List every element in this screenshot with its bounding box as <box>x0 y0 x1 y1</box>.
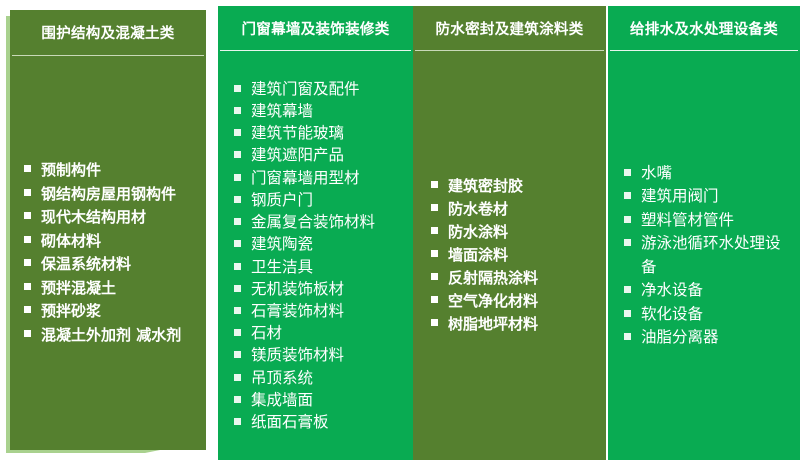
list-item[interactable]: 净水设备 <box>624 279 794 303</box>
list-item-label: 建筑遮阳产品 <box>251 146 344 164</box>
square-bullet-icon <box>624 333 631 340</box>
list-item[interactable]: 建筑用阀门 <box>624 185 794 209</box>
square-bullet-icon <box>234 240 241 247</box>
list-item[interactable]: 游泳池循环水处理设备 <box>624 232 794 279</box>
category-item-list-3: 建筑密封胶 防水卷材 防水涂料 墙面涂料 反射隔热涂料 空气净化材料 树脂地坪材… <box>431 175 600 336</box>
list-item-label: 金属复合装饰材料 <box>251 213 375 231</box>
list-item-label: 建筑幕墙 <box>251 102 313 120</box>
square-bullet-icon <box>624 216 631 223</box>
list-item-label: 树脂地坪材料 <box>448 315 538 333</box>
list-item[interactable]: 金属复合装饰材料 <box>234 211 407 233</box>
square-bullet-icon <box>624 169 631 176</box>
square-bullet-icon <box>431 319 438 326</box>
list-item-label: 墙面涂料 <box>448 246 508 264</box>
list-item-label: 镁质装饰材料 <box>251 346 344 364</box>
list-item[interactable]: 砌体材料 <box>24 230 200 254</box>
square-bullet-icon <box>234 174 241 181</box>
square-bullet-icon <box>234 85 241 92</box>
list-item[interactable]: 水嘴 <box>624 162 794 186</box>
square-bullet-icon <box>431 273 438 280</box>
square-bullet-icon <box>24 330 31 337</box>
list-item-label: 建筑陶瓷 <box>251 235 313 253</box>
square-bullet-icon <box>234 107 241 114</box>
square-bullet-icon <box>24 259 31 266</box>
list-item[interactable]: 空气净化材料 <box>431 290 600 313</box>
list-item-label: 建筑密封胶 <box>448 177 523 195</box>
square-bullet-icon <box>234 307 241 314</box>
column-header-4: 给排水及水处理设备类 <box>608 6 800 50</box>
list-item-label: 建筑节能玻璃 <box>251 124 344 142</box>
category-columns: 围护结构及混凝土类 预制构件 钢结构房屋用钢构件 现代木结构用材 砌体材料 保温… <box>0 0 800 466</box>
list-item-label: 保温系统材料 <box>41 255 131 273</box>
square-bullet-icon <box>624 286 631 293</box>
square-bullet-icon <box>234 374 241 381</box>
square-bullet-icon <box>431 250 438 257</box>
column-body-2: 建筑门窗及配件 建筑幕墙 建筑节能玻璃 建筑遮阳产品 门窗幕墙用型材 钢质户门 … <box>218 51 413 460</box>
list-item-label: 纸面石膏板 <box>251 413 329 431</box>
list-item-label: 现代木结构用材 <box>41 208 146 226</box>
list-item-label: 钢质户门 <box>251 191 313 209</box>
square-bullet-icon <box>234 263 241 270</box>
square-bullet-icon <box>234 418 241 425</box>
category-board: 围护结构及混凝土类 预制构件 钢结构房屋用钢构件 现代木结构用材 砌体材料 保温… <box>0 0 800 466</box>
column-header-1: 围护结构及混凝土类 <box>10 10 206 55</box>
list-item[interactable]: 树脂地坪材料 <box>431 313 600 336</box>
list-item-label: 油脂分离器 <box>641 328 719 346</box>
list-item[interactable]: 反射隔热涂料 <box>431 267 600 290</box>
category-column-2[interactable]: 门窗幕墙及装饰装修类 建筑门窗及配件 建筑幕墙 建筑节能玻璃 建筑遮阳产品 门窗… <box>218 6 413 460</box>
square-bullet-icon <box>234 218 241 225</box>
list-item[interactable]: 保温系统材料 <box>24 253 200 277</box>
column-header-2: 门窗幕墙及装饰装修类 <box>218 6 413 50</box>
list-item-label: 砌体材料 <box>41 232 101 250</box>
list-item[interactable]: 钢质户门 <box>234 189 407 211</box>
list-item[interactable]: 混凝土外加剂 减水剂 <box>24 324 200 348</box>
square-bullet-icon <box>624 310 631 317</box>
list-item-label: 塑料管材管件 <box>641 211 734 229</box>
square-bullet-icon <box>24 283 31 290</box>
category-column-1[interactable]: 围护结构及混凝土类 预制构件 钢结构房屋用钢构件 现代木结构用材 砌体材料 保温… <box>10 10 206 450</box>
square-bullet-icon <box>24 189 31 196</box>
list-item[interactable]: 现代木结构用材 <box>24 206 200 230</box>
list-item-label: 门窗幕墙用型材 <box>251 169 360 187</box>
list-item[interactable]: 石材 <box>234 322 407 344</box>
list-item[interactable]: 建筑幕墙 <box>234 100 407 122</box>
square-bullet-icon <box>234 329 241 336</box>
list-item-label: 预拌砂浆 <box>41 302 101 320</box>
square-bullet-icon <box>234 129 241 136</box>
square-bullet-icon <box>431 227 438 234</box>
list-item-label: 集成墙面 <box>251 391 313 409</box>
square-bullet-icon <box>234 285 241 292</box>
square-bullet-icon <box>24 306 31 313</box>
list-item-label: 无机装饰板材 <box>251 280 344 298</box>
square-bullet-icon <box>24 212 31 219</box>
list-item[interactable]: 墙面涂料 <box>431 244 600 267</box>
square-bullet-icon <box>624 192 631 199</box>
category-item-list-1: 预制构件 钢结构房屋用钢构件 现代木结构用材 砌体材料 保温系统材料 预拌混凝土… <box>24 159 200 347</box>
square-bullet-icon <box>24 165 31 172</box>
list-item[interactable]: 建筑节能玻璃 <box>234 122 407 144</box>
list-item-label: 预制构件 <box>41 161 101 179</box>
category-column-4[interactable]: 给排水及水处理设备类 水嘴 建筑用阀门 塑料管材管件 游泳池循环水处理设备 净水… <box>608 6 800 460</box>
category-item-list-2: 建筑门窗及配件 建筑幕墙 建筑节能玻璃 建筑遮阳产品 门窗幕墙用型材 钢质户门 … <box>234 78 407 433</box>
column-header-3: 防水密封及建筑涂料类 <box>413 6 606 50</box>
square-bullet-icon <box>234 196 241 203</box>
column-body-1: 预制构件 钢结构房屋用钢构件 现代木结构用材 砌体材料 保温系统材料 预拌混凝土… <box>10 56 206 450</box>
square-bullet-icon <box>624 239 631 246</box>
list-item-label: 净水设备 <box>641 281 703 299</box>
square-bullet-icon <box>431 204 438 211</box>
list-item[interactable]: 吊顶系统 <box>234 367 407 389</box>
list-item[interactable]: 钢结构房屋用钢构件 <box>24 183 200 207</box>
list-item-label: 游泳池循环水处理设备 <box>641 234 781 276</box>
list-item-label: 软化设备 <box>641 305 703 323</box>
list-item-label: 防水涂料 <box>448 223 508 241</box>
list-item-label: 石材 <box>251 324 282 342</box>
list-item-label: 钢结构房屋用钢构件 <box>41 185 176 203</box>
list-item-label: 卫生洁具 <box>251 258 313 276</box>
list-item[interactable]: 防水卷材 <box>431 198 600 221</box>
list-item[interactable]: 建筑密封胶 <box>431 175 600 198</box>
list-item[interactable]: 预拌混凝土 <box>24 277 200 301</box>
list-item-label: 水嘴 <box>641 164 672 182</box>
list-item-label: 反射隔热涂料 <box>448 269 538 287</box>
list-item[interactable]: 预制构件 <box>24 159 200 183</box>
column-body-3: 建筑密封胶 防水卷材 防水涂料 墙面涂料 反射隔热涂料 空气净化材料 树脂地坪材… <box>413 51 606 460</box>
list-item[interactable]: 软化设备 <box>624 303 794 327</box>
list-item[interactable]: 集成墙面 <box>234 389 407 411</box>
list-item-label: 建筑门窗及配件 <box>251 80 360 98</box>
list-item-label: 预拌混凝土 <box>41 279 116 297</box>
category-item-list-4: 水嘴 建筑用阀门 塑料管材管件 游泳池循环水处理设备 净水设备 软化设备 油脂分… <box>624 162 794 350</box>
list-item-label: 石膏装饰材料 <box>251 302 344 320</box>
list-item[interactable]: 门窗幕墙用型材 <box>234 167 407 189</box>
square-bullet-icon <box>431 181 438 188</box>
list-item[interactable]: 油脂分离器 <box>624 326 794 350</box>
list-item[interactable]: 石膏装饰材料 <box>234 300 407 322</box>
list-item[interactable]: 塑料管材管件 <box>624 209 794 233</box>
square-bullet-icon <box>234 396 241 403</box>
list-item[interactable]: 建筑门窗及配件 <box>234 78 407 100</box>
list-item[interactable]: 预拌砂浆 <box>24 300 200 324</box>
list-item[interactable]: 无机装饰板材 <box>234 278 407 300</box>
list-item[interactable]: 卫生洁具 <box>234 256 407 278</box>
list-item[interactable]: 纸面石膏板 <box>234 411 407 433</box>
square-bullet-icon <box>234 351 241 358</box>
square-bullet-icon <box>431 296 438 303</box>
list-item[interactable]: 镁质装饰材料 <box>234 344 407 366</box>
list-item-label: 空气净化材料 <box>448 292 538 310</box>
square-bullet-icon <box>234 151 241 158</box>
list-item-label: 防水卷材 <box>448 200 508 218</box>
square-bullet-icon <box>24 236 31 243</box>
list-item-label: 混凝土外加剂 减水剂 <box>41 326 181 344</box>
category-column-3[interactable]: 防水密封及建筑涂料类 建筑密封胶 防水卷材 防水涂料 墙面涂料 反射隔热涂料 空… <box>413 6 606 460</box>
list-item-label: 建筑用阀门 <box>641 187 719 205</box>
column-body-4: 水嘴 建筑用阀门 塑料管材管件 游泳池循环水处理设备 净水设备 软化设备 油脂分… <box>608 51 800 460</box>
list-item[interactable]: 建筑遮阳产品 <box>234 144 407 166</box>
list-item[interactable]: 建筑陶瓷 <box>234 233 407 255</box>
list-item[interactable]: 防水涂料 <box>431 221 600 244</box>
list-item-label: 吊顶系统 <box>251 369 313 387</box>
